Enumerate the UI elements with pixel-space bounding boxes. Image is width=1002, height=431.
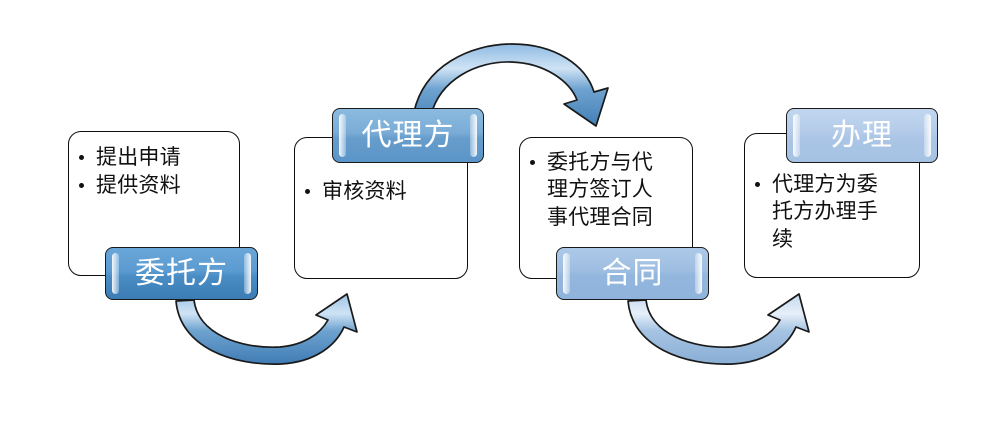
list-item: 提出申请	[75, 144, 233, 171]
step-badge-3[interactable]: 合同	[556, 247, 709, 300]
badge-highlight-left	[112, 253, 119, 294]
step-card-3-list: 委托方与代 理方签订人 事代理合同	[520, 138, 692, 231]
arrow-step3-to-step4	[628, 294, 809, 364]
badge-highlight-left	[793, 114, 800, 157]
badge-highlight-left	[563, 253, 570, 294]
step-badge-3-label: 合同	[602, 259, 664, 289]
arrow-step1-to-step2	[176, 294, 357, 364]
badge-highlight-right	[470, 114, 477, 157]
diagram-canvas: 提出申请 提供资料 审核资料 委托方与代 理方签订人 事代理合同 代理方为委 托…	[0, 0, 1002, 431]
step-badge-4-label: 办理	[831, 121, 893, 151]
step-badge-4[interactable]: 办理	[786, 108, 938, 163]
step-badge-1-label: 委托方	[135, 259, 228, 289]
step-badge-2-label: 代理方	[362, 121, 455, 151]
step-badge-1[interactable]: 委托方	[105, 247, 258, 300]
list-item: 委托方与代 理方签订人 事代理合同	[526, 149, 688, 231]
badge-highlight-right	[695, 253, 702, 294]
step-badge-2[interactable]: 代理方	[332, 108, 484, 163]
list-item: 提供资料	[75, 172, 233, 199]
list-item: 代理方为委 托方办理手 续	[751, 171, 915, 253]
badge-highlight-left	[339, 114, 346, 157]
list-item: 审核资料	[301, 178, 461, 205]
badge-highlight-right	[924, 114, 931, 157]
badge-highlight-right	[244, 253, 251, 294]
step-card-1-list: 提出申请 提供资料	[69, 132, 239, 200]
